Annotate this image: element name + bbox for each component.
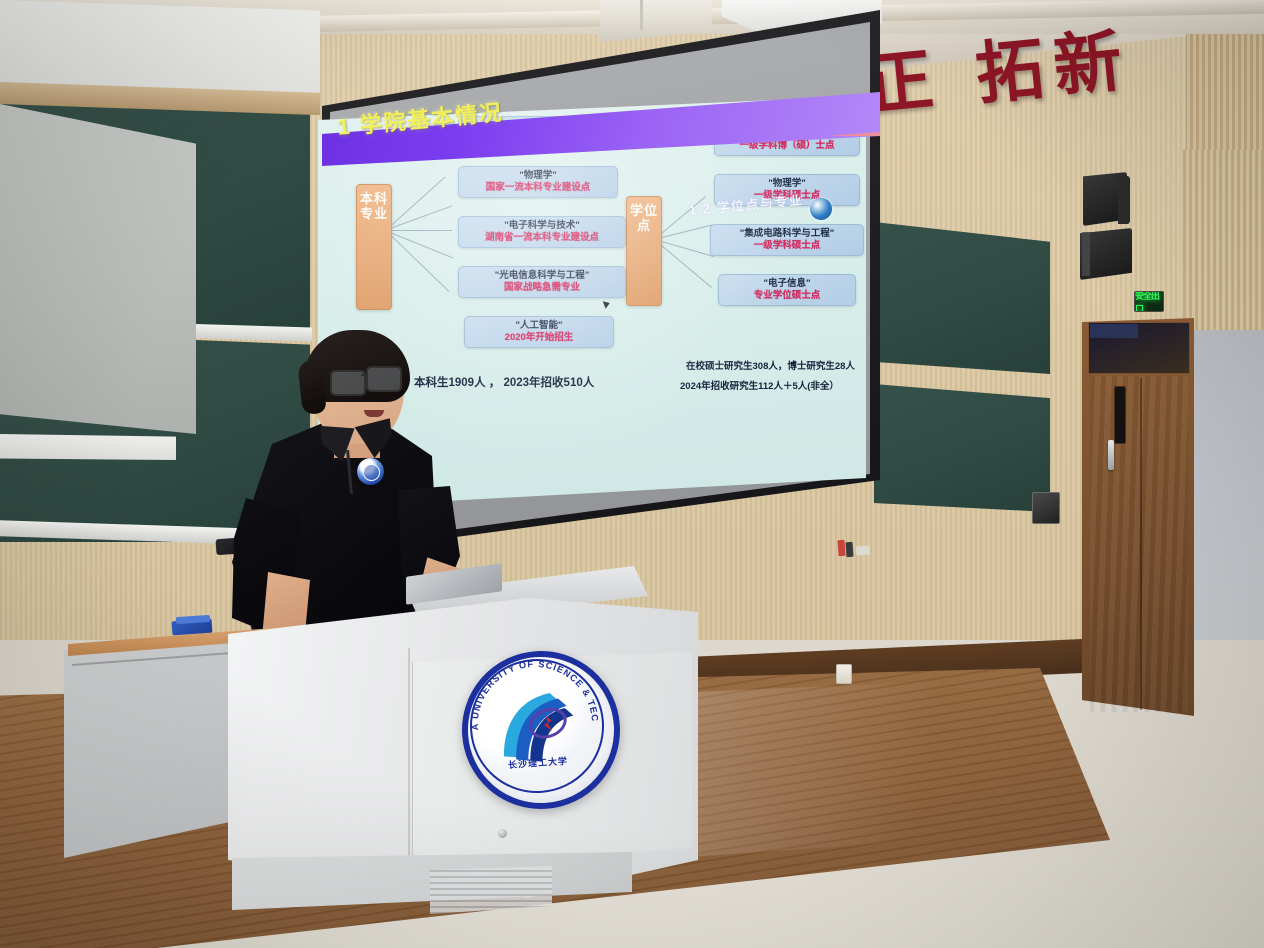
whiteboard-right: [0, 434, 176, 460]
wall-speaker-upper-side: [1118, 176, 1130, 224]
podium-lock-icon[interactable]: [498, 829, 507, 838]
wall-mounted-device[interactable]: [1032, 492, 1060, 524]
degree-box: "电子信息" 专业学位硕士点: [718, 274, 856, 306]
connector-line: [390, 232, 453, 258]
degree-name: "物理学": [719, 178, 855, 190]
door-seam: [1140, 378, 1142, 710]
program-box: "人工智能" 2020年开始招生: [464, 316, 614, 348]
blackboard-right-frame: [0, 104, 196, 434]
program-name: "电子科学与技术": [463, 220, 621, 232]
degree-status: 专业学位硕士点: [723, 290, 851, 302]
degree-status: 一级学科硕士点: [715, 240, 859, 252]
connector-line: [390, 177, 446, 227]
degree-name: "集成电路科学与工程": [715, 228, 859, 240]
group-label-undergraduate: 本科专业: [356, 184, 392, 310]
black-marker[interactable]: [845, 542, 853, 557]
door-woodgrain: [1090, 376, 1188, 712]
projector-pole: [640, 0, 643, 30]
footer-grad-stats-line2: 2024年招收研究生112人＋5人(非全）: [680, 378, 839, 392]
program-box: "电子科学与技术" 湖南省一流本科专业建设点: [458, 216, 626, 248]
connector-line: [658, 224, 713, 239]
program-status: 湖南省一流本科专业建设点: [463, 232, 621, 244]
glasses-lens-right: [366, 366, 402, 392]
wall-light-switch[interactable]: [836, 664, 852, 684]
connector-line: [390, 234, 450, 292]
program-box: "光电信息科学与工程" 国家战略急需专业: [458, 266, 626, 298]
footer-grad-stats-line1: 在校硕士研究生308人，博士研究生28人: [686, 358, 855, 372]
program-box: "物理学" 国家一流本科专业建设点: [458, 166, 618, 198]
wall-speaker-lower-side: [1082, 232, 1090, 276]
blackboard-right-lower: [874, 384, 1050, 512]
program-status: 国家一流本科专业建设点: [463, 182, 613, 194]
podium-vent-grille: [430, 866, 552, 914]
program-name: "光电信息科学与工程": [463, 270, 621, 282]
door-transom-highlight: [1090, 324, 1138, 338]
exit-sign: 安全出口: [1134, 291, 1164, 312]
program-name: "物理学": [463, 170, 613, 182]
degree-box: "集成电路科学与工程" 一级学科硕士点: [710, 224, 864, 256]
door-view-window: [1114, 386, 1126, 444]
podium-panel-seam: [408, 648, 410, 868]
connector-line: [390, 230, 452, 231]
red-marker[interactable]: [837, 540, 845, 556]
exit-sign-text: 安全出口: [1135, 291, 1163, 312]
program-status: 国家战略急需专业: [463, 282, 621, 294]
group-label-degree-programs: 学位点: [626, 196, 662, 306]
program-status: 2020年开始招生: [469, 332, 609, 344]
program-name: "人工智能": [469, 320, 609, 332]
board-eraser[interactable]: [856, 546, 871, 556]
classroom-scene: 守正 拓新 19:23:29 年 月 日 星 期 安全出口 本科专业 学位点: [0, 0, 1264, 948]
glasses-bridge: [361, 374, 368, 376]
degree-name: "电子信息": [723, 278, 851, 290]
whiteboard-left: [0, 0, 320, 93]
door-handle[interactable]: [1108, 440, 1114, 470]
blackboard-right-upper: [874, 222, 1050, 374]
shirt-logo-inner-ring: [363, 464, 380, 481]
